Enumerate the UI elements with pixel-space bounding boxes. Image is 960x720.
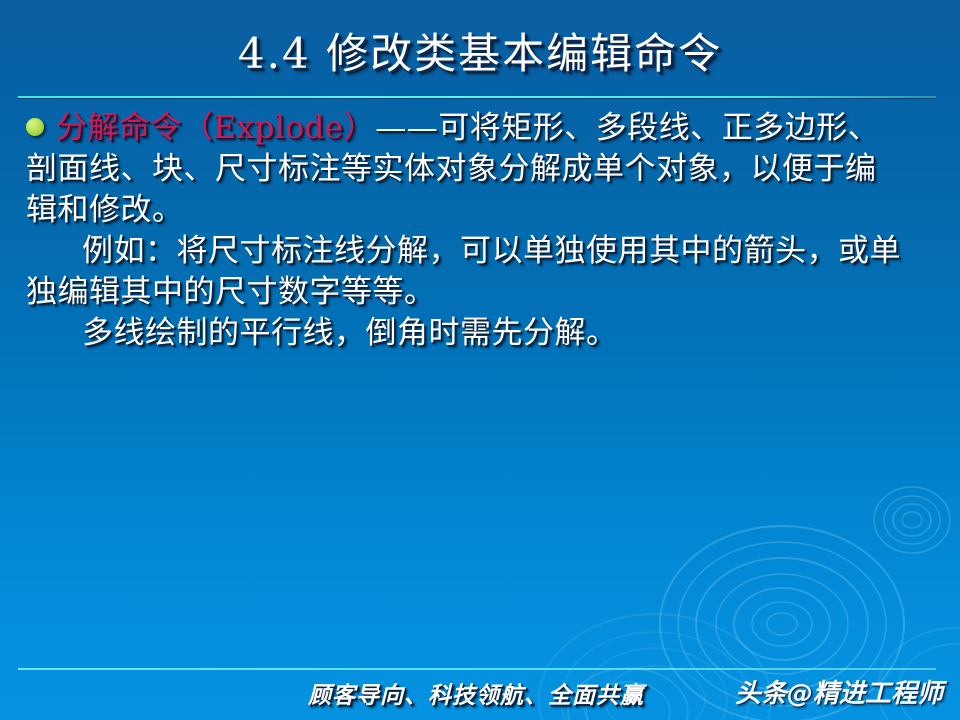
- title-divider: [18, 96, 936, 98]
- presentation-slide: 4.4 修改类基本编辑命令 分解命令（Explode）——可将矩形、多段线、正多…: [0, 0, 960, 720]
- slide-title-bar: 4.4 修改类基本编辑命令: [0, 14, 960, 86]
- watermark-label: 头条@精进工程师: [735, 673, 943, 710]
- paragraph-1-line-2: 剖面线、块、尺寸标注等实体对象分解成单个对象，以便于编: [0, 149, 960, 190]
- bullet-heading-rest: ——可将矩形、多段线、正多边形、: [375, 110, 879, 146]
- slide-body: 分解命令（Explode）——可将矩形、多段线、正多边形、 剖面线、块、尺寸标注…: [0, 108, 960, 354]
- paragraph-3-line-1: 多线绘制的平行线，倒角时需先分解。: [0, 313, 960, 354]
- footer-divider: [18, 668, 936, 670]
- bullet-paragraph: 分解命令（Explode）——可将矩形、多段线、正多边形、: [0, 108, 960, 149]
- bullet-dot-icon: [26, 118, 44, 136]
- paragraph-2-line-1: 例如：将尺寸标注线分解，可以单独使用其中的箭头，或单: [0, 231, 960, 272]
- command-name-accent: 分解命令（Explode）: [56, 110, 375, 146]
- page-title: 4.4 修改类基本编辑命令: [238, 20, 722, 81]
- paragraph-1-line-3: 辑和修改。: [0, 190, 960, 231]
- paragraph-2-line-2: 独编辑其中的尺寸数字等等。: [0, 272, 960, 313]
